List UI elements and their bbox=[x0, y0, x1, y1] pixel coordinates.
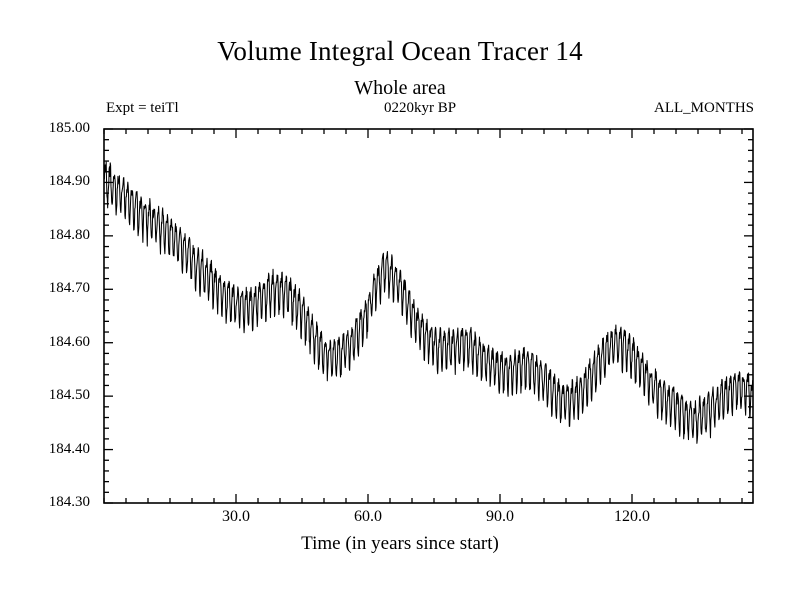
x-tick-label: 60.0 bbox=[323, 508, 413, 526]
axis-ticks bbox=[104, 129, 753, 503]
chart-title: Volume Integral Ocean Tracer 14 bbox=[0, 36, 800, 67]
y-tick-label: 184.60 bbox=[10, 334, 90, 351]
y-tick-label: 184.90 bbox=[10, 173, 90, 190]
x-tick-label: 30.0 bbox=[191, 508, 281, 526]
y-tick-label: 185.00 bbox=[10, 120, 90, 137]
x-axis-title: Time (in years since start) bbox=[0, 533, 800, 555]
x-tick-label: 120.0 bbox=[587, 508, 677, 526]
header-months-label: ALL_MONTHS bbox=[654, 100, 754, 117]
chart-subtitle: Whole area bbox=[0, 77, 800, 100]
header-age-label: 0220kyr BP bbox=[384, 100, 456, 117]
y-tick-label: 184.50 bbox=[10, 387, 90, 404]
header-experiment-label: Expt = teiTl bbox=[106, 100, 179, 117]
data-series-line bbox=[104, 162, 753, 443]
y-tick-label: 184.30 bbox=[10, 494, 90, 511]
y-tick-label: 184.40 bbox=[10, 441, 90, 458]
x-tick-label: 90.0 bbox=[455, 508, 545, 526]
y-tick-label: 184.70 bbox=[10, 280, 90, 297]
y-tick-label: 184.80 bbox=[10, 227, 90, 244]
plot-frame bbox=[104, 129, 753, 503]
figure-canvas: Volume Integral Ocean Tracer 14 Whole ar… bbox=[0, 0, 800, 600]
